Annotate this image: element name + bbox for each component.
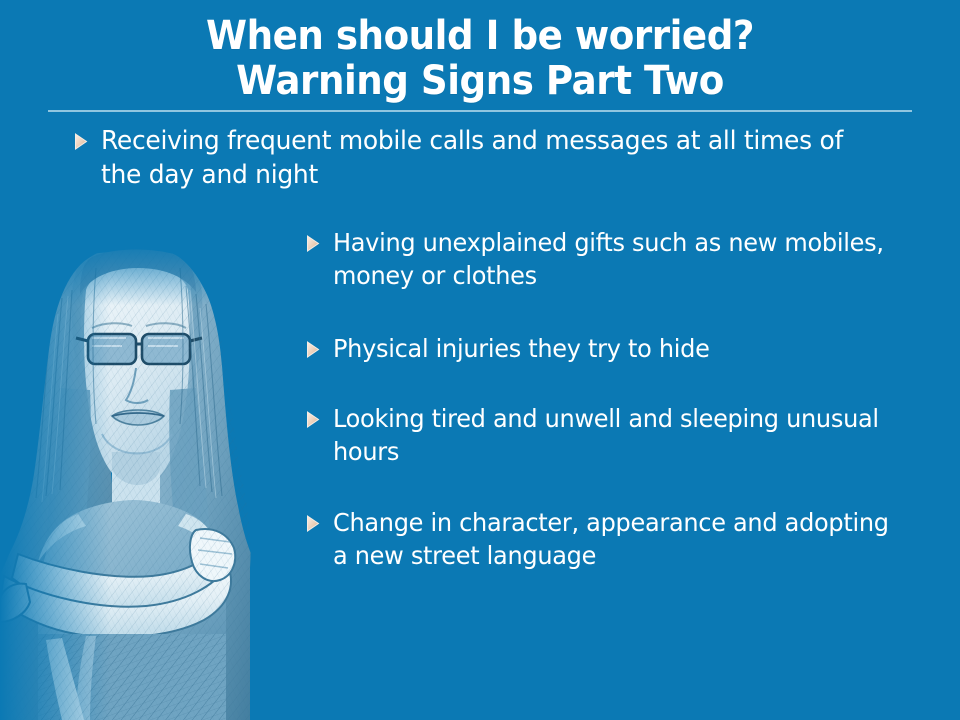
bullet-item-level1-1: Receiving frequent mobile calls and mess… (74, 124, 904, 192)
bullet-item-level2-2: Physical injuries they try to hide (306, 332, 924, 365)
bullet-item-level2-3: Looking tired and unwell and sleeping un… (306, 402, 924, 468)
slide: When should I be worried? Warning Signs … (0, 0, 960, 720)
arrowhead-bullet-icon (306, 235, 320, 252)
bullet-text-level2-3: Looking tired and unwell and sleeping un… (333, 402, 900, 468)
bullet-item-level2-4: Change in character, appearance and adop… (306, 506, 924, 572)
title-line-1: When should I be worried? (34, 14, 927, 59)
bullet-item-level2-1: Having unexplained gifts such as new mob… (306, 226, 924, 292)
arrowhead-bullet-icon (74, 133, 88, 150)
slide-title: When should I be worried? Warning Signs … (0, 14, 960, 104)
bullet-text-level1-1: Receiving frequent mobile calls and mess… (101, 124, 872, 192)
arrowhead-bullet-icon (306, 341, 320, 358)
title-divider-rule (48, 110, 912, 112)
arrowhead-bullet-icon (306, 411, 320, 428)
bullet-text-level2-2: Physical injuries they try to hide (333, 332, 710, 365)
arrowhead-bullet-icon (306, 515, 320, 532)
title-line-2: Warning Signs Part Two (34, 59, 927, 104)
bullet-text-level2-4: Change in character, appearance and adop… (333, 506, 900, 572)
content-bullet-list: Receiving frequent mobile calls and mess… (0, 124, 960, 720)
bullet-text-level2-1: Having unexplained gifts such as new mob… (333, 226, 900, 292)
